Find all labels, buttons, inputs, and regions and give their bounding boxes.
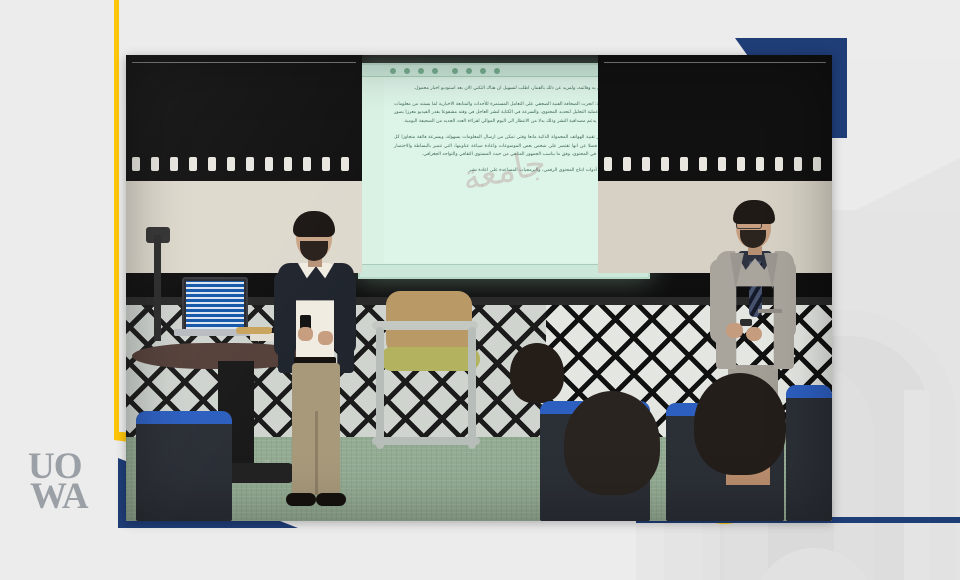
armchair-leg-left <box>376 327 384 449</box>
event-photo: الكمبيوتر الخاص به وقائمه، ولمزيد عن ذلك… <box>126 55 832 521</box>
doc-paragraph: ج- تطور أدوات انتاج المحتوى الرقمي، والب… <box>394 167 628 176</box>
audience-chair <box>786 385 832 521</box>
armchair-leg-right <box>468 327 476 449</box>
presenter-left <box>264 215 368 515</box>
photo-scene: الكمبيوتر الخاص به وقائمه، ولمزيد عن ذلك… <box>126 55 832 521</box>
doc-paragraph: أ- الأهمية: اتجرت الصحافة الفنية الصحفي … <box>394 101 628 127</box>
uowa-logo: UO WA <box>28 452 124 528</box>
film-strip-right <box>598 55 832 181</box>
film-strip-left <box>126 55 362 181</box>
microphone-stand <box>154 235 161 341</box>
laptop <box>182 277 248 333</box>
audience-head <box>564 391 660 495</box>
film-sprocket-holes <box>598 157 832 171</box>
armchair-base-bar <box>372 437 480 445</box>
wristwatch <box>740 319 752 326</box>
audience-head <box>694 373 786 475</box>
armchair-seat <box>380 347 480 371</box>
laptop-screen <box>186 281 244 329</box>
doc-paragraph: ب- تظهر تقنية الهواتف المحمولة الذكية ما… <box>394 134 628 160</box>
film-sprocket-holes <box>126 157 362 171</box>
logo-line-2: WA <box>30 482 124 512</box>
armchair-armrest <box>372 321 478 330</box>
audience-chair <box>136 411 232 521</box>
yellow-vertical-rule <box>114 0 119 438</box>
page-canvas: UO WA الكمبيوتر الخاص به وقائمه، ولمزيد … <box>0 0 960 580</box>
doc-paragraph: الكمبيوتر الخاص به وقائمه، ولمزيد عن ذلك… <box>394 85 628 94</box>
